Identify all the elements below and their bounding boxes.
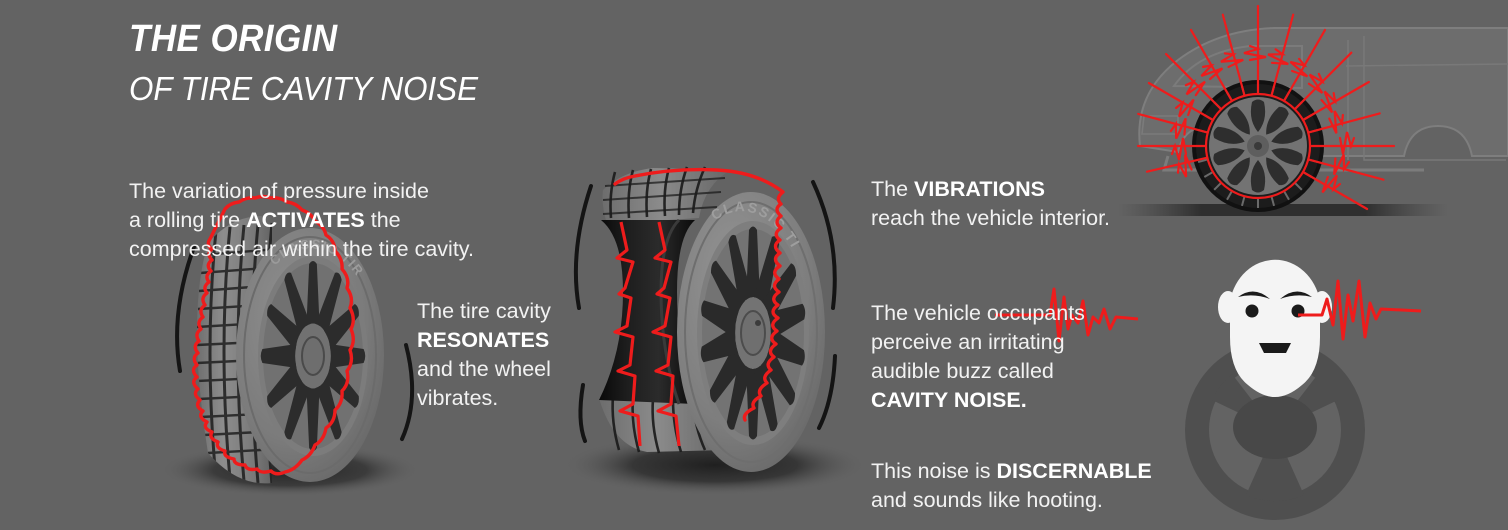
wheel-hub bbox=[741, 311, 765, 355]
callout-discernable-text-1: This noise is bbox=[871, 459, 996, 483]
vibration-arc-left-2 bbox=[580, 385, 585, 441]
callout-discernable: This noise is DISCERNABLE and sounds lik… bbox=[871, 428, 1152, 515]
callout-occupants-emphasis: CAVITY NOISE. bbox=[871, 388, 1027, 412]
callout-discernable-text-2: and sounds like hooting. bbox=[871, 488, 1103, 512]
car-illustration bbox=[1078, 0, 1508, 236]
callout-occupants: The vehicle occupants perceive an irrita… bbox=[871, 270, 1085, 415]
callout-vibrations-emphasis: VIBRATIONS bbox=[914, 177, 1045, 201]
callout-discernable-emphasis: DISCERNABLE bbox=[996, 459, 1151, 483]
callout-activates: The variation of pressure inside a rolli… bbox=[129, 148, 474, 264]
eye-left bbox=[1246, 305, 1259, 318]
callout-vibrations-text-1: The bbox=[871, 177, 914, 201]
wheel-hub bbox=[302, 337, 324, 375]
vibration-arc-right bbox=[402, 345, 412, 439]
callout-vibrations: The VIBRATIONS reach the vehicle interio… bbox=[871, 146, 1110, 233]
title-line-1: THE ORIGIN bbox=[129, 20, 467, 58]
callout-resonates: The tire cavity RESONATES and the wheel … bbox=[417, 268, 551, 413]
driver-illustration bbox=[1160, 245, 1390, 530]
callout-resonates-text-2: and the wheel vibrates. bbox=[417, 357, 551, 410]
vibration-arc-left bbox=[177, 247, 194, 371]
callout-vibrations-text-2: reach the vehicle interior. bbox=[871, 206, 1110, 230]
page-title: THE ORIGIN OF TIRE CAVITY NOISE bbox=[129, 20, 496, 105]
title-line-2: OF TIRE CAVITY NOISE bbox=[129, 72, 478, 105]
callout-occupants-text-1: The vehicle occupants perceive an irrita… bbox=[871, 301, 1085, 383]
left-tire-illustration: CLASSIC TIRE bbox=[150, 225, 430, 515]
center-tire-illustration: CLASSIC TIRE bbox=[555, 160, 875, 505]
callout-resonates-text-1: The tire cavity bbox=[417, 299, 551, 323]
callout-activates-emphasis: ACTIVATES bbox=[246, 208, 365, 232]
infographic-canvas: THE ORIGIN OF TIRE CAVITY NOISE bbox=[0, 0, 1508, 530]
vibration-arc-left bbox=[576, 186, 591, 308]
ear-left bbox=[1218, 291, 1238, 323]
mouth bbox=[1259, 343, 1291, 353]
callout-resonates-emphasis: RESONATES bbox=[417, 328, 549, 352]
wheel-center-boss bbox=[1233, 395, 1317, 459]
